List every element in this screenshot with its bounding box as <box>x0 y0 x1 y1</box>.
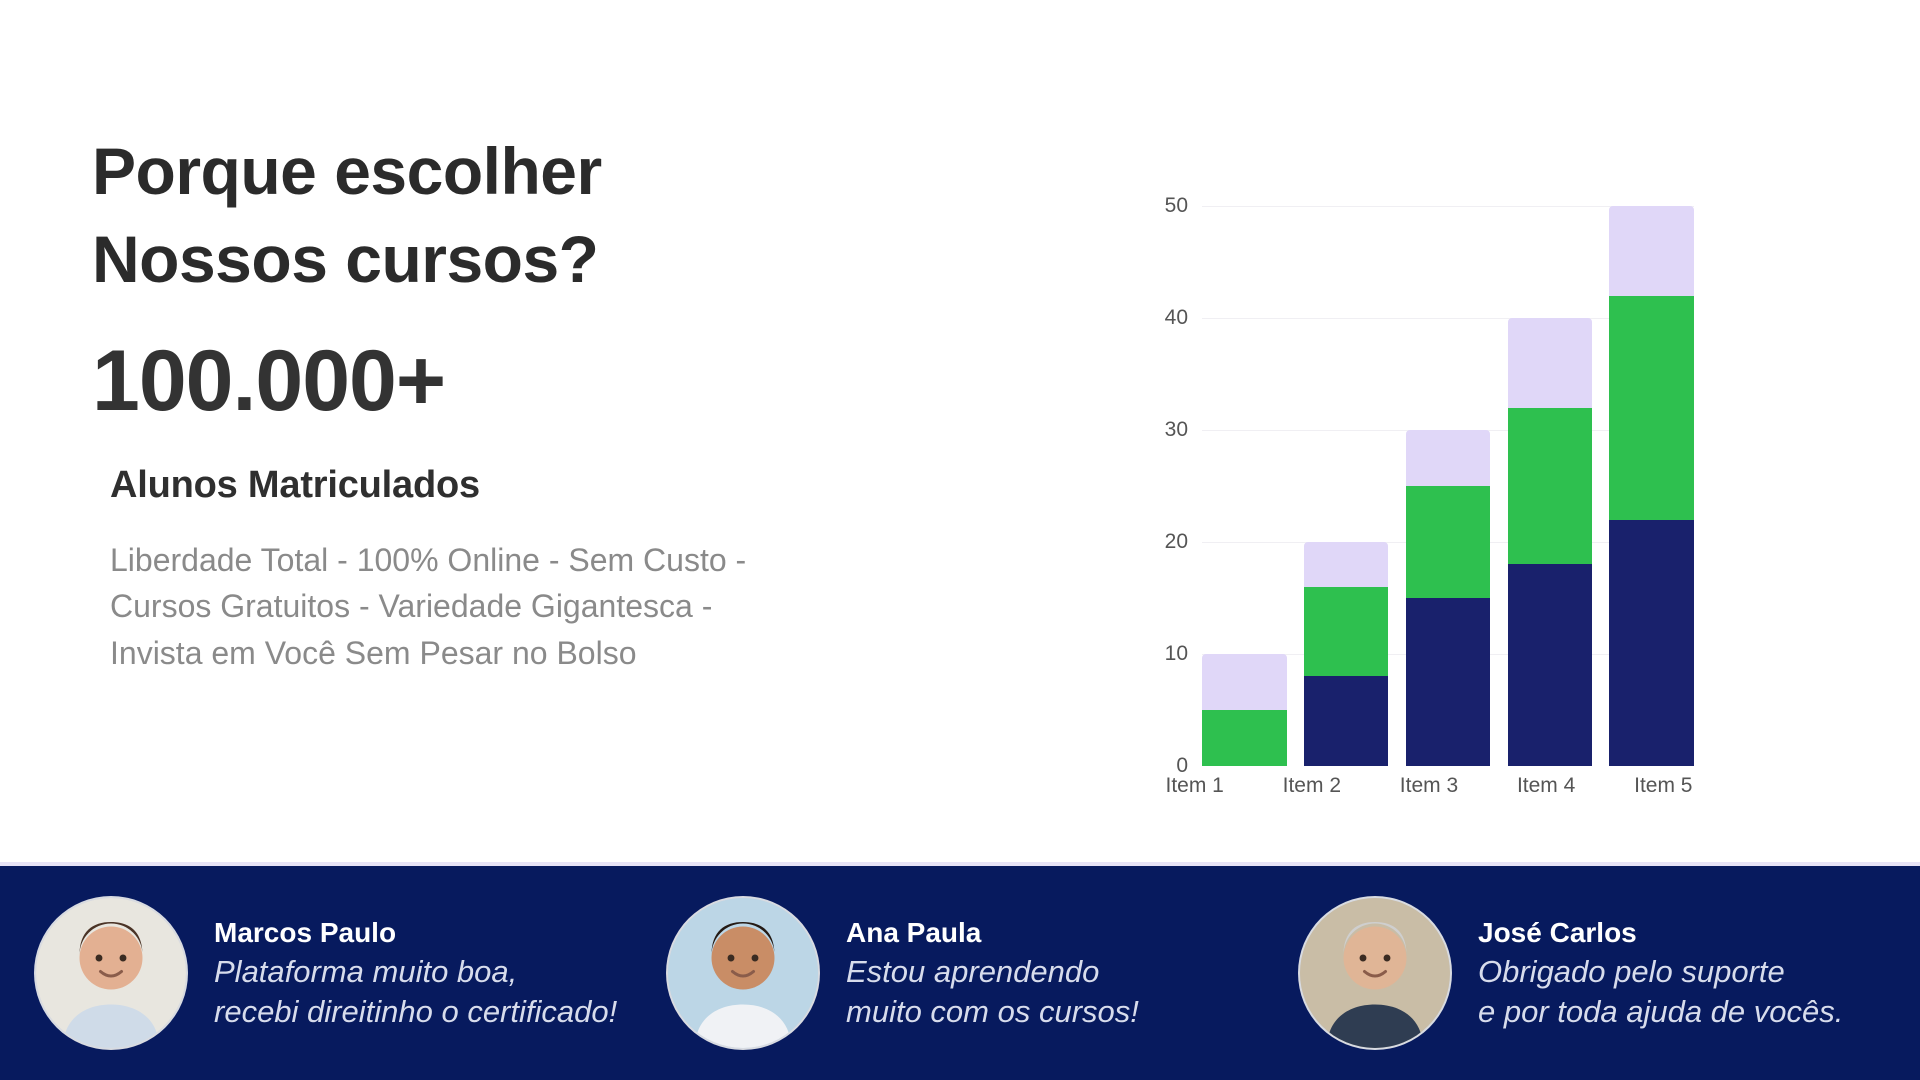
testimonial-name: Marcos Paulo <box>214 915 617 950</box>
testimonial: Marcos PauloPlataforma muito boa, recebi… <box>34 896 646 1050</box>
bar-segment[interactable] <box>1508 318 1593 408</box>
avatar-photo-woman <box>666 896 820 1050</box>
chart-plot-frame: 01020304050 <box>1146 206 1712 766</box>
y-axis-tick-label: 20 <box>1165 530 1188 554</box>
bar-segment[interactable] <box>1304 587 1389 677</box>
bar-segment[interactable] <box>1609 520 1694 766</box>
x-axis-tick-label: Item 3 <box>1380 774 1477 798</box>
bar-column[interactable] <box>1508 206 1593 766</box>
y-axis-tick-label: 10 <box>1165 642 1188 666</box>
x-axis-labels: Item 1Item 2Item 3Item 4Item 5 <box>1146 774 1712 798</box>
bar-column[interactable] <box>1202 206 1287 766</box>
bar-segment[interactable] <box>1202 710 1287 766</box>
bar-column[interactable] <box>1609 206 1694 766</box>
avatar-photo-man-young <box>34 896 188 1050</box>
bar-segment[interactable] <box>1202 654 1287 710</box>
testimonial-quote: Obrigado pelo suporte e por toda ajuda d… <box>1478 952 1843 1031</box>
testimonial-text: José CarlosObrigado pelo suporte e por t… <box>1478 915 1843 1031</box>
bar-column[interactable] <box>1304 206 1389 766</box>
left-content-column: Porque escolher Nossos cursos? 100.000+ … <box>0 0 1030 676</box>
slide-root: Porque escolher Nossos cursos? 100.000+ … <box>0 0 1920 1080</box>
y-axis-tick-label: 30 <box>1165 418 1188 442</box>
student-count-label: Alunos Matriculados <box>110 464 1030 507</box>
x-axis-tick-label: Item 5 <box>1615 774 1712 798</box>
testimonial-name: José Carlos <box>1478 915 1843 950</box>
testimonial-text: Ana PaulaEstou aprendendo muito com os c… <box>846 915 1139 1031</box>
x-axis-tick-label: Item 1 <box>1146 774 1243 798</box>
testimonial-quote: Estou aprendendo muito com os cursos! <box>846 952 1139 1031</box>
y-axis-labels: 01020304050 <box>1146 206 1198 766</box>
testimonial-text: Marcos PauloPlataforma muito boa, recebi… <box>214 915 617 1031</box>
bar-segment[interactable] <box>1304 542 1389 587</box>
avatar-photo-man-senior <box>1298 896 1452 1050</box>
testimonial: José CarlosObrigado pelo suporte e por t… <box>1278 896 1910 1050</box>
x-axis-tick-label: Item 4 <box>1497 774 1594 798</box>
page-title: Porque escolher Nossos cursos? <box>92 128 1030 304</box>
testimonials-bar: Marcos PauloPlataforma muito boa, recebi… <box>0 866 1920 1080</box>
x-axis-tick-label: Item 2 <box>1263 774 1360 798</box>
upper-section: Porque escolher Nossos cursos? 100.000+ … <box>0 0 1920 862</box>
stacked-bar-chart: 01020304050 Item 1Item 2Item 3Item 4Item… <box>1090 206 1730 806</box>
bar-segment[interactable] <box>1609 206 1694 296</box>
y-axis-tick-label: 40 <box>1165 306 1188 330</box>
y-axis-tick-label: 50 <box>1165 194 1188 218</box>
student-count-number: 100.000+ <box>92 336 1030 426</box>
bar-segment[interactable] <box>1406 598 1491 766</box>
testimonial-name: Ana Paula <box>846 915 1139 950</box>
testimonial: Ana PaulaEstou aprendendo muito com os c… <box>646 896 1278 1050</box>
bar-segment[interactable] <box>1304 676 1389 766</box>
chart-area: 01020304050 Item 1Item 2Item 3Item 4Item… <box>1030 0 1920 862</box>
benefits-paragraph: Liberdade Total - 100% Online - Sem Cust… <box>110 537 940 676</box>
bar-segment[interactable] <box>1406 430 1491 486</box>
bar-segment[interactable] <box>1508 564 1593 766</box>
bar-segment[interactable] <box>1508 408 1593 565</box>
bar-segment[interactable] <box>1609 296 1694 520</box>
bar-column[interactable] <box>1406 206 1491 766</box>
chart-bars <box>1202 206 1694 766</box>
bar-segment[interactable] <box>1406 486 1491 598</box>
testimonial-quote: Plataforma muito boa, recebi direitinho … <box>214 952 617 1031</box>
